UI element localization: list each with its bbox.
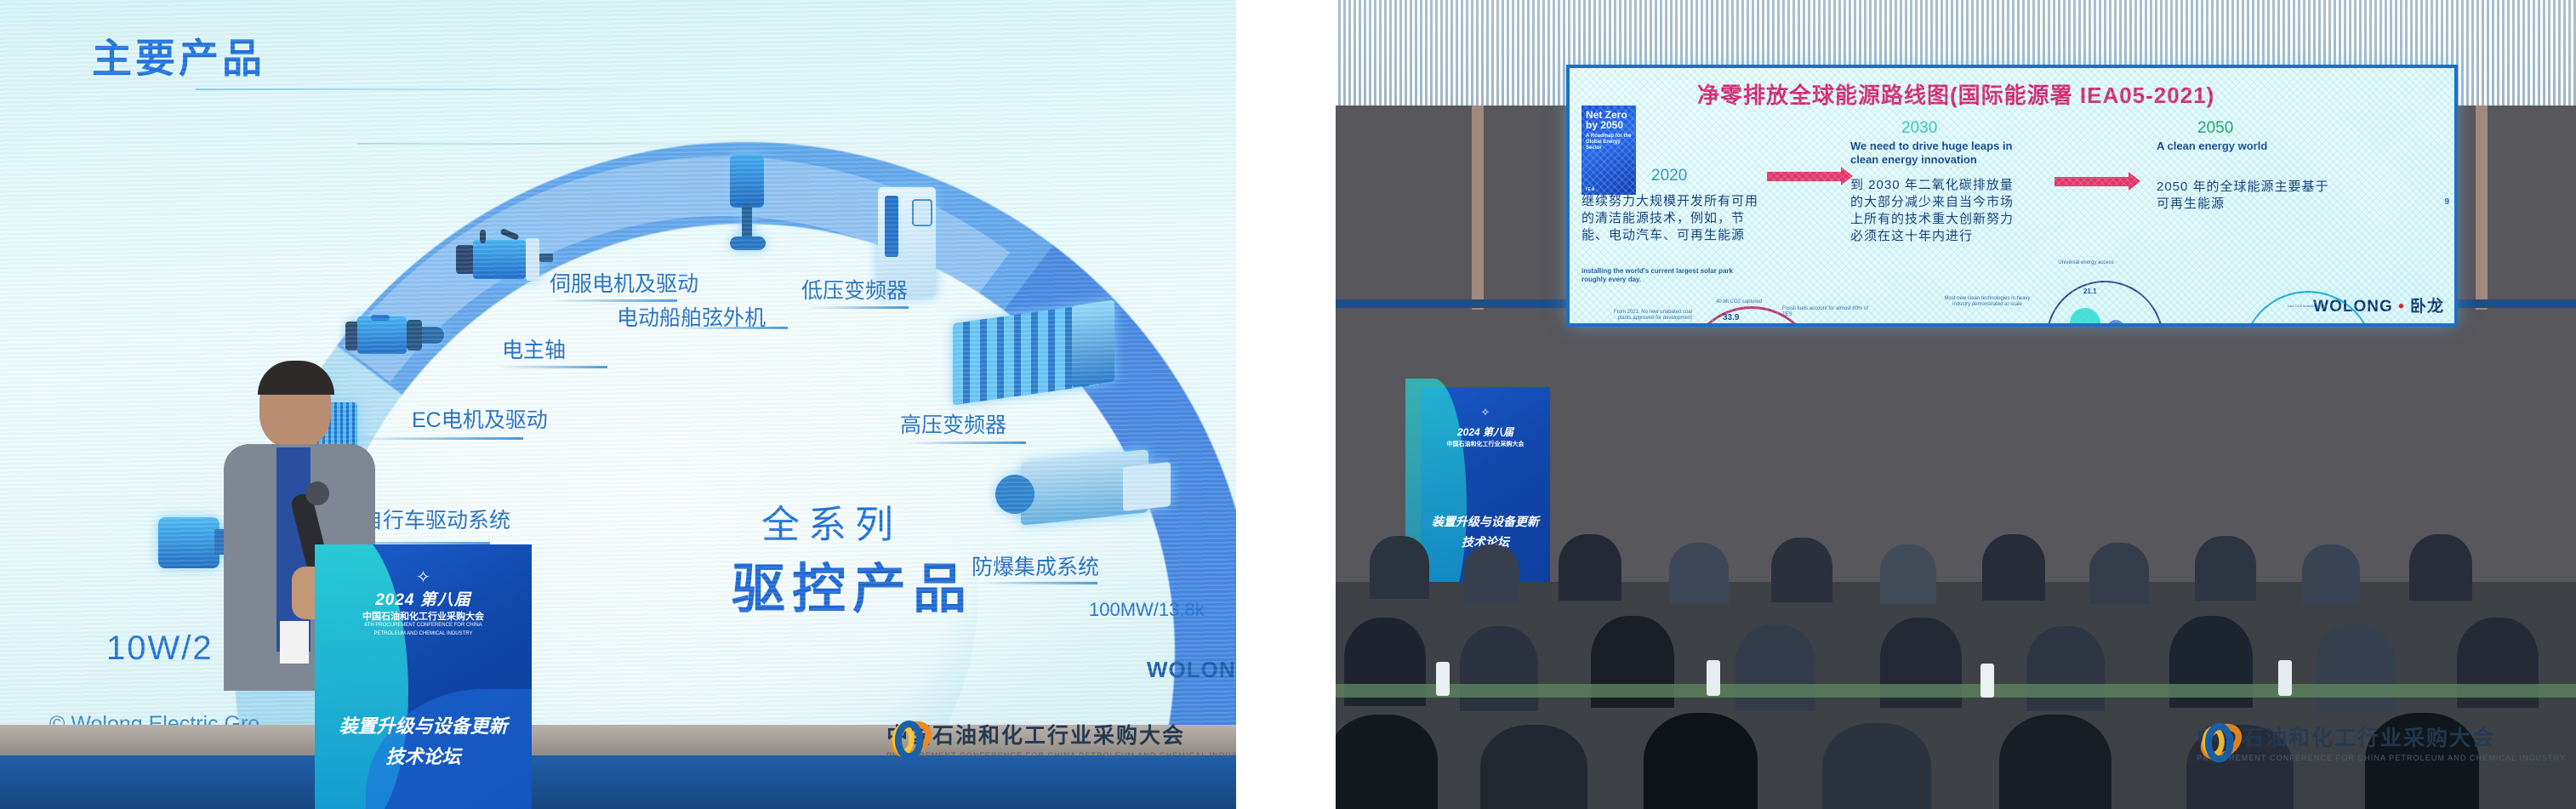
conference-logo-icon [886, 715, 936, 764]
hv-inverter-icon [953, 299, 1123, 402]
spec-min: 10W/2 [106, 630, 214, 668]
note-no-new-coal: From 2021: No new unabated coal plants a… [1610, 310, 1692, 322]
podium-conference-cn-left: 中国石油和化工行业采购大会 [315, 609, 532, 623]
product-underline-hv-inverter [907, 442, 1026, 444]
product-label-lv-inverter: 低压变频器 [801, 274, 908, 305]
water-bottle [2278, 660, 2292, 696]
net-zero-report-cover: Net Zero by 2050 A Roadmap for the Globa… [1582, 105, 1636, 195]
conference-watermark-left: 中国石油和化工行业采购大会 PROCUREMENT CONFERENCE FOR… [886, 719, 1236, 760]
note-universal-access: Universal energy access [2055, 260, 2117, 266]
conference-watermark-right: 中国石油和化工行业采购大会 PROCUREMENT CONFERENCE FOR… [2197, 721, 2566, 762]
podium-year-left: 2024 第八届 [315, 587, 532, 610]
electric-spindle-icon [345, 313, 446, 361]
note-heavy-industry: Most new clean technologies in heavy ind… [1942, 296, 2032, 308]
left-floor [0, 755, 1236, 809]
wolong-brand-left: WOLONG [1147, 657, 1236, 683]
note-solar-park: installing the world's current largest s… [1582, 267, 1757, 284]
title-divider-secondary [357, 143, 953, 145]
column-text-2030: 到 2030 年二氧化碳排放量的大部分减少来自当今市场上所有的技术重大创新努力必… [1850, 177, 2024, 245]
servo-motor-icon [451, 233, 553, 286]
screenshot-root: 主要产品 [0, 0, 2576, 809]
wolong-en: WOLONG [2313, 298, 2393, 316]
water-bottle [1980, 664, 1994, 698]
left-led-screen: 主要产品 [0, 0, 1236, 726]
wolong-brand-right: WOLONG • 卧龙 [2313, 293, 2444, 316]
slide-page-number: 9 [2444, 197, 2449, 208]
audience-table-row [1336, 684, 2576, 698]
podium-conference-en1-left: 8TH PROCUREMENT CONFERENCE FOR CHINA [315, 623, 532, 628]
roadmap-title: 净零排放全球能源路线图(国际能源署 IEA05-2021) [1697, 78, 2214, 110]
wolong-dot: • [2398, 298, 2405, 316]
note-fossil-80pct: Fossil fuels account for almost 80% of T… [1782, 306, 1876, 318]
title-divider [196, 88, 672, 90]
conference-logo-icon [2197, 717, 2246, 766]
spec-max: 100MW/13.8k [1089, 599, 1205, 621]
wall-pilaster [2476, 105, 2488, 310]
arrow-2030-to-2050 [2055, 177, 2129, 186]
podium-forum-line1-left: 装置升级与设备更新 [315, 711, 532, 738]
bubble-total-2020: 33.9 [1723, 313, 1739, 323]
wall-pilaster [1472, 105, 1484, 310]
column-english-2050: A clean energy world [2157, 140, 2335, 153]
arrow-2020-to-2030 [1767, 172, 1842, 181]
bubble-chart-2030 [2046, 281, 2163, 323]
column-year-2020: 2020 [1651, 167, 1687, 185]
right-led-screen: 净零排放全球能源路线图(国际能源署 IEA05-2021) Net Zero b… [1570, 68, 2454, 323]
product-underline-lv-inverter [806, 306, 909, 309]
watermark-en-right: PROCUREMENT CONFERENCE FOR CHINA PETROLE… [2197, 754, 2566, 762]
column-text-2020: 继续努力大规模开发所有可用的清洁能源技术，例如，节能、电动汽车、可再生能源 [1582, 193, 1762, 244]
wolong-cn: 卧龙 [2410, 298, 2444, 316]
product-label-explosion-proof: 防爆集成系统 [972, 550, 1099, 581]
headline-product: 驱控产品 [732, 546, 973, 624]
water-bottle [1707, 660, 1720, 696]
marine-outboard-icon [716, 155, 778, 257]
note-40mt-captured: 40 Mt CO2 captured [1713, 299, 1765, 305]
watermark-en-left: PROCUREMENT CONFERENCE FOR CHINA PETROLE… [886, 751, 1236, 760]
left-photo: 主要产品 [0, 0, 1236, 809]
podium-forum-line2-left: 技术论坛 [315, 742, 532, 769]
podium-left: ✧ 2024 第八届 中国石油和化工行业采购大会 8TH PROCUREMENT… [315, 544, 532, 809]
product-underline-spindle [497, 366, 607, 368]
podium-year-right: 2024 第八届 [1421, 424, 1550, 439]
column-text-2050: 2050 年的全球能源主要基于可再生能源 [2157, 179, 2340, 213]
bubble-total-2030: 21.1 [2083, 288, 2097, 296]
product-label-spindle: 电主轴 [502, 333, 566, 364]
product-label-ec-motor: EC电机及驱动 [412, 403, 548, 434]
report-title-line2: by 2050 [1586, 120, 1632, 130]
product-label-hv-inverter: 高压变频器 [900, 408, 1006, 439]
podium-conference-en2-left: PETROLEUM AND CHEMICAL INDUSTRY [315, 631, 532, 636]
column-year-2030: 2030 [1901, 119, 1937, 138]
product-underline-marine [677, 327, 788, 329]
product-label-servo: 伺服电机及驱动 [550, 267, 698, 298]
report-publisher: IEA [1586, 187, 1595, 192]
page-title: 主要产品 [92, 26, 265, 84]
headline-series: 全系列 [761, 493, 902, 549]
column-year-2050: 2050 [2197, 119, 2233, 138]
explosion-proof-system-icon [995, 444, 1174, 548]
product-underline-explosion-proof [978, 582, 1097, 584]
column-english-2030: We need to drive huge leaps in clean ene… [1850, 140, 2017, 167]
podium-conference-cn-right: 中国石油和化工行业采购大会 [1421, 440, 1550, 448]
watermark-cn-right: 中国石油和化工行业采购大会 [2197, 721, 2566, 752]
water-bottle [1436, 662, 1450, 696]
right-photo: 净零排放全球能源路线图(国际能源署 IEA05-2021) Net Zero b… [1336, 0, 2576, 809]
report-subtitle: A Roadmap for the Global Energy Sector [1586, 134, 1632, 151]
watermark-cn-left: 中国石油和化工行业采购大会 [886, 719, 1236, 749]
podium-forum-line1-right: 装置升级与设备更新 [1421, 513, 1550, 530]
